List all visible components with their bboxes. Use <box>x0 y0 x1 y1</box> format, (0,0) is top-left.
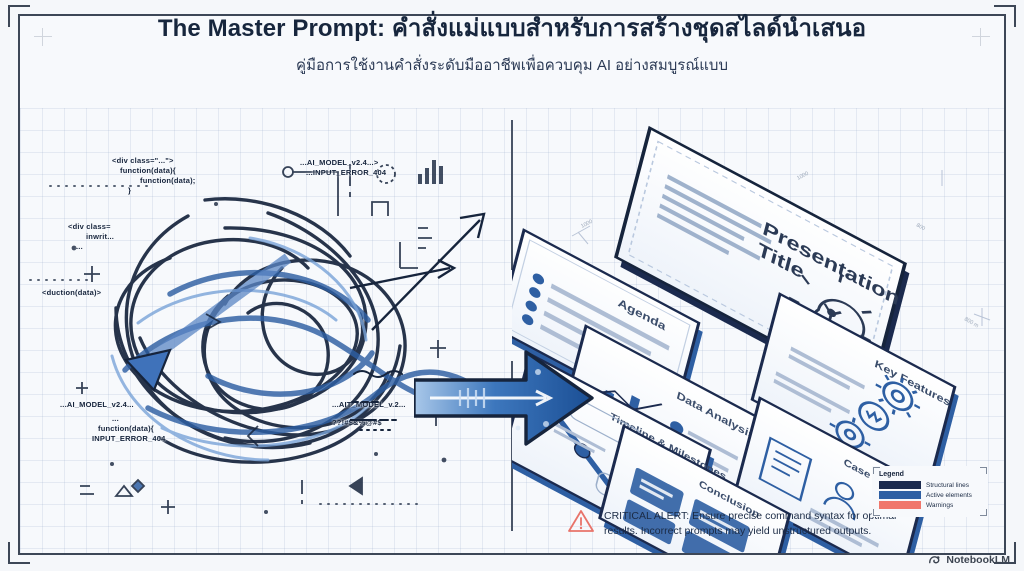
code-label: function(data){ <box>120 166 176 175</box>
blueprint-area: <div class="..."> function(data){ functi… <box>20 108 1004 553</box>
legend-label: Active elements <box>926 492 972 499</box>
watermark-label: NotebookLM <box>946 554 1010 566</box>
code-label: function(data){ <box>98 424 154 433</box>
transformation-arrow <box>414 346 594 451</box>
outline-arrow-upright <box>350 214 484 330</box>
legend-item-active: Active elements <box>879 491 981 499</box>
svg-text:1000: 1000 <box>796 171 810 182</box>
code-label: <duction(data)> <box>42 288 101 297</box>
code-label: ... <box>112 414 119 423</box>
code-label: INPUT_ERROR_404 <box>92 434 165 443</box>
legend-swatch <box>879 481 921 489</box>
page-subtitle: คู่มือการใช้งานคำสั่งระดับมืออาชีพเพื่อค… <box>0 53 1024 77</box>
svg-text:800 m: 800 m <box>963 317 980 330</box>
tangled-code-illustration: <div class="..."> function(data){ functi… <box>20 108 512 553</box>
code-label: ...INPUT_ERROR_404 <box>306 168 386 177</box>
legend-item-warnings: Warnings <box>879 501 981 509</box>
alert-message: CRITICAL ALERT: Ensure precise command s… <box>604 509 896 539</box>
code-label: ...AI_MODEL_v2.4... <box>60 400 134 409</box>
legend-corner-br <box>980 509 987 516</box>
legend-title: Legend <box>879 471 981 478</box>
svg-text:800: 800 <box>915 223 926 233</box>
code-label: ...AI_MODEL_v2.4...> <box>300 158 378 167</box>
notebooklm-watermark: NotebookLM <box>928 553 1010 567</box>
legend: Legend Structural lines Active elements … <box>872 466 988 517</box>
alert-line-2: results. Incorrect prompts may yield uns… <box>604 524 896 539</box>
legend-label: Structural lines <box>926 482 969 489</box>
warning-triangle-icon <box>568 509 594 533</box>
notebooklm-icon <box>928 553 942 567</box>
critical-alert: CRITICAL ALERT: Ensure precise command s… <box>568 509 896 539</box>
alert-line-1: CRITICAL ALERT: Ensure precise command s… <box>604 509 896 524</box>
spaghetti-lines-svg <box>20 108 512 553</box>
code-label: inwrit... <box>86 232 114 241</box>
mini-bar-chart-doodle <box>418 160 443 184</box>
legend-corner-tl <box>873 467 880 474</box>
code-label: <div class="..."> <box>112 156 174 165</box>
code-label: <div class= <box>68 222 111 231</box>
legend-item-structural: Structural lines <box>879 481 981 489</box>
code-label: } <box>128 186 131 195</box>
poster-header: The Master Prompt: คำสั่งแม่แบบสำหรับการ… <box>0 14 1024 77</box>
legend-swatch <box>879 501 921 509</box>
legend-corner-bl <box>873 509 880 516</box>
legend-corner-tr <box>980 467 987 474</box>
code-label: ... <box>76 242 83 251</box>
code-label: function(data); <box>140 176 196 185</box>
poster-canvas: The Master Prompt: คำสั่งแม่แบบสำหรับการ… <box>0 0 1024 571</box>
page-title: The Master Prompt: คำสั่งแม่แบบสำหรับการ… <box>0 14 1024 44</box>
legend-swatch <box>879 491 921 499</box>
legend-label: Warnings <box>926 502 953 509</box>
